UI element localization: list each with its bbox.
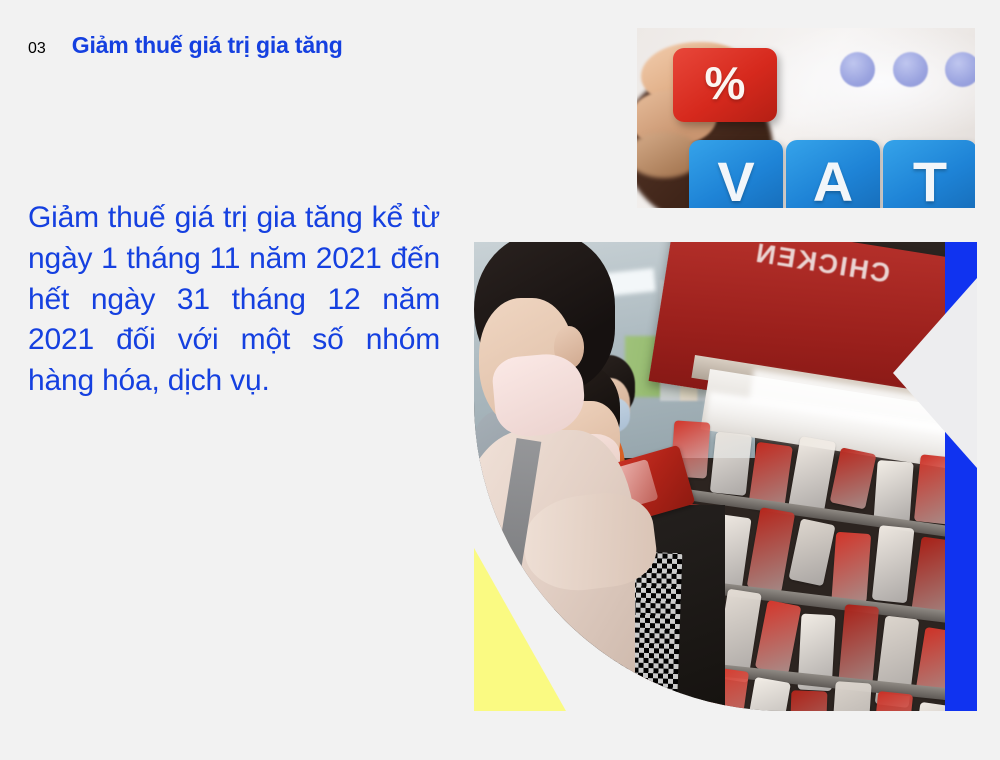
section-number: 03 — [28, 40, 46, 58]
page-title: Giảm thuế giá trị gia tăng — [72, 34, 343, 57]
body-paragraph: Giảm thuế giá trị gia tăng kể từ ngày 1 … — [28, 198, 440, 402]
vat-cube-a: A — [786, 140, 880, 208]
meat-package — [873, 460, 913, 524]
vat-cube-letter: T — [913, 154, 947, 208]
meat-package — [789, 690, 827, 711]
percent-cube-label: % — [705, 60, 746, 106]
vat-cube-letter: V — [717, 154, 754, 208]
vat-photo: % V A T — [637, 28, 975, 208]
lavender-dot — [840, 52, 875, 87]
slide-header: 03 Giảm thuế giá trị gia tăng — [28, 34, 343, 58]
meat-package — [869, 691, 913, 711]
vat-cube-t: T — [883, 140, 975, 208]
meat-package — [830, 447, 877, 509]
meat-package — [831, 532, 871, 603]
meat-package — [872, 525, 915, 603]
meat-package — [744, 677, 790, 711]
meat-package — [709, 431, 751, 496]
market-photo: CHICKEN — [474, 242, 976, 711]
vat-cube-letter: A — [813, 154, 853, 208]
meat-package — [746, 507, 795, 593]
lavender-dot — [945, 52, 975, 87]
vat-cube-row: V A T — [689, 140, 975, 208]
percent-cube: % — [673, 48, 777, 122]
vat-cube-v: V — [689, 140, 783, 208]
meat-package — [788, 436, 836, 514]
meat-package — [830, 681, 871, 711]
meat-package — [788, 518, 836, 586]
meat-package — [755, 600, 801, 674]
lavender-dot — [893, 52, 928, 87]
